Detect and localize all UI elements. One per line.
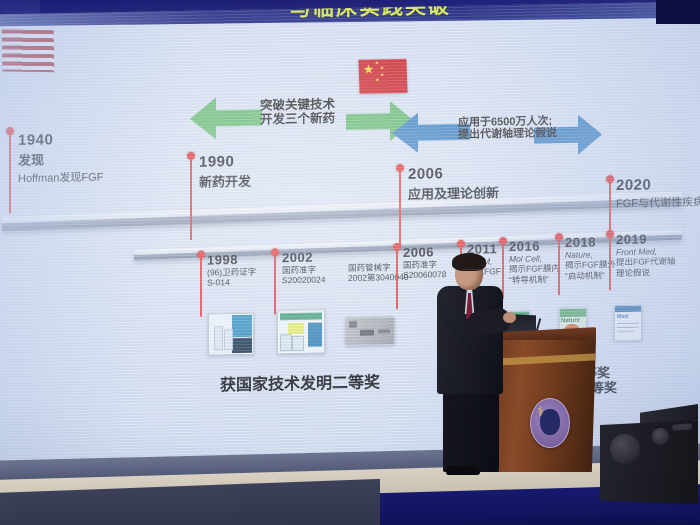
milestone-1940-heading: 发现 [18, 148, 103, 169]
milestone-2020: 2020 FGF与代谢性疾病 [616, 175, 700, 211]
milestone-2020-detail: FGF与代谢性疾病 [616, 193, 700, 211]
green-arrow-caption-line1: 突破关键技术 [260, 97, 335, 112]
presenter-shoes [446, 466, 480, 475]
milestone-2006-bottom-line2: S20060078 [403, 270, 447, 281]
journal-cover-front-med-label: Med [617, 314, 628, 320]
green-arrow-caption: 突破关键技术 开发三个新药 [260, 97, 335, 126]
milestone-1998-line2: S-014 [207, 277, 256, 288]
green-arrow-caption-line2: 开发三个新药 [260, 111, 335, 126]
milestone-2002-device-line2: 2002第3040040 [348, 272, 409, 283]
blue-arrow-caption-line2: 提出代谢轴理论假说 [458, 127, 557, 141]
screen-right-edge-shadow [656, 0, 700, 24]
united-states-flag-icon [2, 29, 55, 72]
milestone-1990: 1990 新药开发 [199, 153, 251, 191]
green-arrow-left-icon [190, 95, 262, 142]
milestone-2016-year: 2016 [509, 238, 560, 254]
milestone-2006-bottom: 2006 国药准字 S20060078 [403, 244, 447, 281]
china-flag-icon: ★★★ ★★ [358, 59, 407, 94]
presenter-hand [503, 312, 516, 323]
milestone-2002-line2: S20020024 [282, 275, 326, 286]
projection-screen: 与临床实践突破 ★★★ ★★ [0, 2, 700, 467]
milestone-1940: 1940 发现 Hoffman发现FGF [18, 130, 103, 186]
milestone-2002-device: 国药管械字 2002第3040040 [348, 262, 409, 284]
presenter-legs [443, 388, 499, 472]
timeline-bar-upper [2, 191, 682, 231]
milestone-2002: 2002 国药准字 S20020024 [282, 249, 326, 286]
product-photo-gel-box [277, 309, 325, 354]
award-caption-main: 获国家技术发明二等奖 [220, 368, 380, 395]
product-photo-spray-bottles [208, 313, 254, 356]
loudspeaker-woofer [610, 434, 640, 464]
milestone-2006-year: 2006 [408, 164, 499, 183]
milestone-1998: 1998 (96)卫药证字 S-014 [207, 252, 256, 289]
journal-cover-front-med: Med [614, 305, 642, 342]
product-photo-medical-device-card [345, 316, 395, 346]
loudspeaker-tweeter [652, 428, 669, 445]
power-cable [560, 455, 607, 474]
blue-arrow-caption: 应用于6500万人次; 提出代谢轴理论假说 [458, 115, 557, 141]
loudspeaker-cabinet [600, 420, 698, 504]
milestone-2016-line1: 揭示FGF膜内 [509, 263, 560, 274]
presenter-glasses-icon [462, 269, 483, 276]
milestone-1940-detail: Hoffman发现FGF [18, 168, 103, 186]
milestone-1990-heading: 新药开发 [199, 171, 251, 191]
milestone-2006-bottom-year: 2006 [403, 244, 447, 260]
milestone-2016: 2016 Mol Cell, 揭示FGF膜内 “转导机制” [509, 238, 560, 285]
milestone-2006-top: 2006 应用及理论创新 [408, 164, 499, 203]
milestone-2019-year: 2019 [616, 231, 676, 247]
milestone-2016-line2: “转导机制” [509, 274, 560, 285]
milestone-2019: 2019 Front Med, 提出FGF代谢轴 理论假说 [616, 231, 676, 278]
photo-scene: 与临床实践突破 ★★★ ★★ [0, 0, 700, 525]
milestone-2020-year: 2020 [616, 175, 700, 194]
milestone-1940-year: 1940 [18, 130, 103, 149]
milestone-2006-heading: 应用及理论创新 [408, 182, 499, 203]
milestone-2019-line2: 理论假说 [616, 267, 676, 278]
milestone-1998-line1: (96)卫药证字 [207, 267, 256, 278]
university-emblem-icon: ⚕ [530, 398, 570, 448]
milestone-2002-year: 2002 [282, 249, 326, 265]
milestone-1998-year: 1998 [207, 252, 256, 268]
milestone-1990-year: 1990 [199, 153, 251, 171]
milestone-2019-line1: 提出FGF代谢轴 [616, 256, 676, 267]
